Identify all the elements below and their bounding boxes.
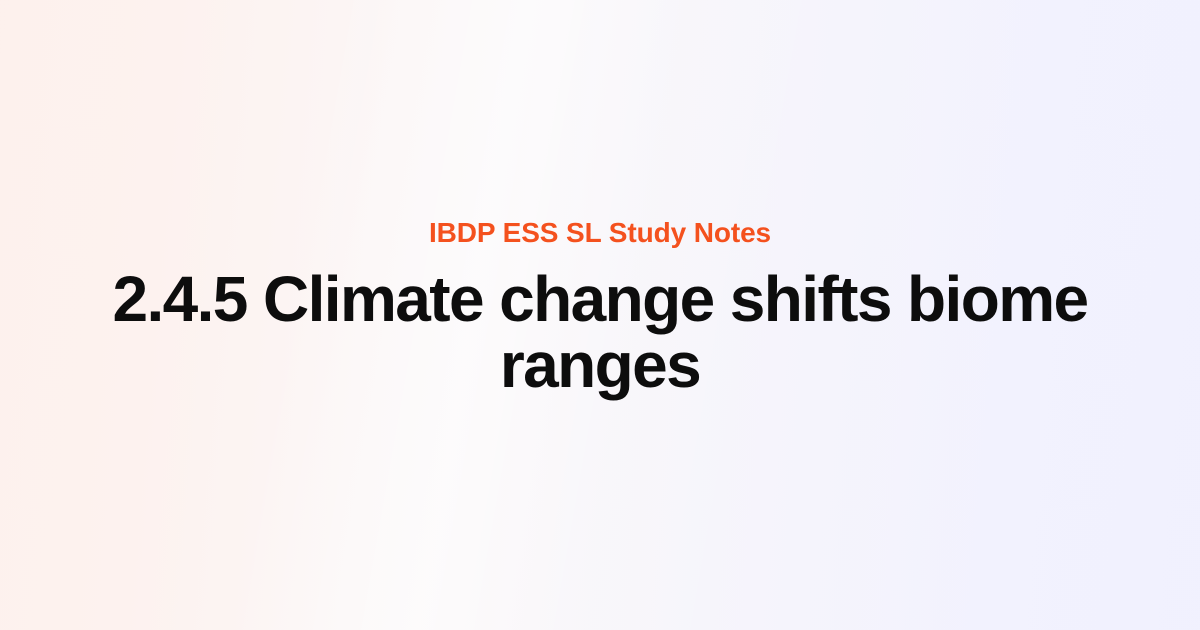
page-title: 2.4.5 Climate change shifts biome ranges [100, 266, 1100, 398]
study-notes-banner: IBDP ESS SL Study Notes 2.4.5 Climate ch… [0, 0, 1200, 630]
banner-eyebrow-label: IBDP ESS SL Study Notes [100, 216, 1100, 250]
banner-content: IBDP ESS SL Study Notes 2.4.5 Climate ch… [80, 216, 1120, 398]
